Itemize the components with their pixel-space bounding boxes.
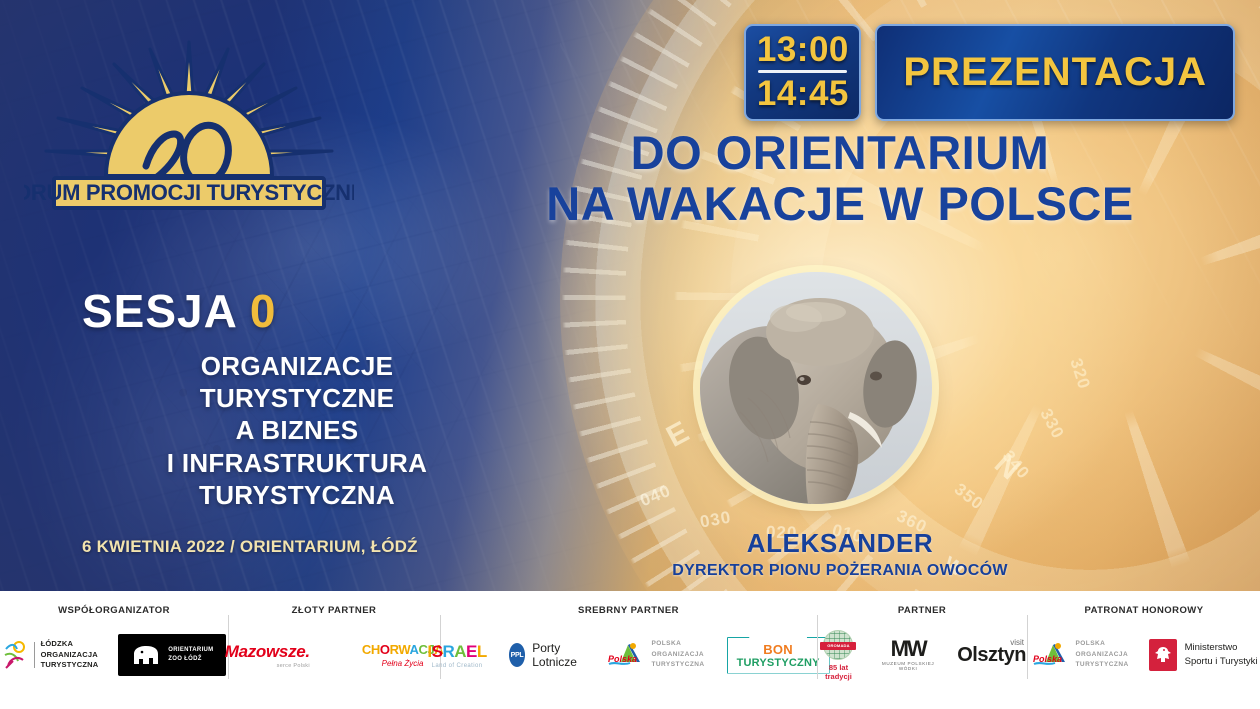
sunburst-icon: FORUM PROMOCJI TURYSTYCZNEJ [24,38,354,216]
orientarium-zoo-text: ORIENTARIUM ZOO ŁÓDŹ [168,646,213,664]
poster-slide: 320 330 340 350 360 010 020 030 040 N E … [0,0,1260,709]
session-number: 0 [250,285,277,337]
polska-logo-text: POLSKA ORGANIZACJA TURYSTYCZNA [651,639,704,670]
porty-lotnicze-logo[interactable]: PPL Porty Lotnicze [509,641,585,669]
partner-group-partner: PARTNER GROMADA 85 lat tradycji MW MUZEU… [818,591,1026,709]
polska-line-2: ORGANIZACJA [651,650,704,660]
zoo-line-2: ZOO ŁÓDŹ [168,655,213,664]
time-end: 14:45 [746,75,859,112]
polska-line-2: ORGANIZACJA [1076,650,1129,660]
bon-subwordmark: TURYSTYCZNY [737,657,820,669]
time-start: 13:00 [746,31,859,68]
lot-logo[interactable]: ŁÓDZKA ORGANIZACJA TURYSTYCZNA [2,639,99,672]
eagle-glyph [1153,644,1173,666]
lot-line-1: ŁÓDZKA [41,639,99,650]
orientarium-zoo-lodz-logo[interactable]: ORIENTARIUM ZOO ŁÓDŹ [118,634,226,676]
muzeum-wordmark: MW [877,639,939,659]
speaker-role: DYREKTOR PIONU POŻERANIA OWOCÓW [610,562,1070,580]
session-topic-line: ORGANIZACJE [82,350,512,382]
headline-line-1: DO ORIENTARIUM [470,128,1210,179]
polish-eagle-icon [1149,639,1177,671]
partner-group-label: PARTNER [818,591,1026,616]
session-date-venue: 6 KWIETNIA 2022 / ORIENTARIUM, ŁÓDŹ [82,537,512,557]
speaker-block: ALEKSANDER DYREKTOR PIONU POŻERANIA OWOC… [610,528,1070,580]
bon-turystyczny-logo[interactable]: BON TURYSTYCZNY [727,637,830,674]
partners-footer: WSPÓŁORGANIZATOR ŁÓDZKA O [0,591,1260,709]
speaker-photo [700,272,932,504]
ministerstwo-line-2: Sportu i Turystyki [1185,655,1258,669]
lot-line-3: TURYSTYCZNA [41,660,99,671]
partner-group-label: WSPÓŁORGANIZATOR [0,591,228,616]
gromada-globe-icon: GROMADA [823,630,853,660]
partner-group-label: ZŁOTY PARTNER [229,591,439,616]
bon-wordmark: BON [737,642,820,657]
partner-group-cohost: WSPÓŁORGANIZATOR ŁÓDZKA O [0,591,228,709]
lot-logo-mark [2,640,28,670]
muzeum-polskiej-wodki-logo[interactable]: MW MUZEUM POLSKIEJ WÓDKI [877,639,939,672]
ministerstwo-text: Ministerstwo Sportu i Turystyki [1185,641,1258,669]
session-topic-line: TURYSTYCZNE [82,382,512,414]
time-separator [758,70,847,73]
session-topic-line: A BIZNES [82,414,512,446]
israel-tagline: Land of Creation [427,663,486,669]
polska-kite-icon: Polska [1031,640,1069,670]
elephant-icon [131,644,161,666]
mazowsze-tagline: serce Polski [225,663,310,669]
porty-lotnicze-mark: PPL [509,643,525,667]
polska-organizacja-turystyczna-logo[interactable]: Polska POLSKA ORGANIZACJA TURYSTYCZNA [606,639,704,670]
session-topic-line: I INFRASTRUKTURA [82,447,512,479]
headline: DO ORIENTARIUM NA WAKACJE W POLSCE [470,128,1210,230]
polska-kite-icon: Polska [606,640,644,670]
svg-text:Polska: Polska [608,654,637,664]
muzeum-subtext: MUZEUM POLSKIEJ WÓDKI [877,661,939,671]
polska-line-3: TURYSTYCZNA [1076,660,1129,670]
polska-line-3: TURYSTYCZNA [651,660,704,670]
forum-logo: FORUM PROMOCJI TURYSTYCZNEJ [24,38,354,216]
badge-row: 13:00 14:45 PREZENTACJA [744,24,1235,121]
partner-group-silver: SREBRNY PARTNER ISRAEL Land of Creation … [441,591,816,709]
time-badge: 13:00 14:45 [744,24,861,121]
session-type-badge: PREZENTACJA [875,24,1235,121]
forum-logo-wordmark: FORUM PROMOCJI TURYSTYCZNEJ [24,180,354,205]
polska-line-1: POLSKA [651,639,704,649]
visit-olsztyn-logo[interactable]: visit Olsztyn [957,644,1026,667]
partner-group-gold: ZŁOTY PARTNER Mazowsze. serce Polski CHO… [229,591,439,709]
elephant-photo-illustration [700,272,932,504]
zoo-line-1: ORIENTARIUM [168,646,213,655]
speaker-name: ALEKSANDER [610,528,1070,559]
lot-line-2: ORGANIZACJA [41,650,99,661]
mazowsze-wordmark: Mazowsze. [225,642,310,662]
israel-wordmark: ISRAEL [427,642,486,662]
headline-line-2: NA WAKACJE W POLSCE [470,179,1210,230]
session-type-label: PREZENTACJA [903,50,1207,95]
session-label: SESJA [82,285,236,337]
israel-logo[interactable]: ISRAEL Land of Creation [427,642,486,669]
lot-logo-text: ŁÓDZKA ORGANIZACJA TURYSTYCZNA [41,639,99,672]
visit-olsztyn-wordmark: Olsztyn [957,644,1026,667]
ministerstwo-sportu-i-turystyki-logo[interactable]: Ministerstwo Sportu i Turystyki [1149,639,1258,671]
partner-group-label: PATRONAT HONOROWY [1028,591,1260,616]
visit-olsztyn-tagline: visit [1010,638,1024,647]
gromada-tagline: 85 lat tradycji [818,663,859,681]
session-title: SESJA 0 [82,288,512,334]
partner-group-patronage: PATRONAT HONOROWY Polska POLSKA ORGANIZ [1028,591,1260,709]
session-topic: ORGANIZACJE TURYSTYCZNE A BIZNES I INFRA… [82,350,512,511]
polska-logo-text: POLSKA ORGANIZACJA TURYSTYCZNA [1076,639,1129,670]
ministerstwo-line-1: Ministerstwo [1185,641,1258,655]
logo-divider [34,642,35,668]
gromada-logo[interactable]: GROMADA 85 lat tradycji [818,630,859,681]
gromada-band-text: GROMADA [820,642,856,650]
porty-lotnicze-wordmark: Porty Lotnicze [532,641,584,669]
polska-line-1: POLSKA [1076,639,1129,649]
session-topic-line: TURYSTYCZNA [82,479,512,511]
session-block: SESJA 0 ORGANIZACJE TURYSTYCZNE A BIZNES… [82,288,512,557]
partner-group-label: SREBRNY PARTNER [441,591,816,616]
svg-text:Polska: Polska [1033,654,1062,664]
mazowsze-logo[interactable]: Mazowsze. serce Polski [225,642,310,669]
polska-organizacja-turystyczna-logo[interactable]: Polska POLSKA ORGANIZACJA TURYSTYCZNA [1031,639,1129,670]
